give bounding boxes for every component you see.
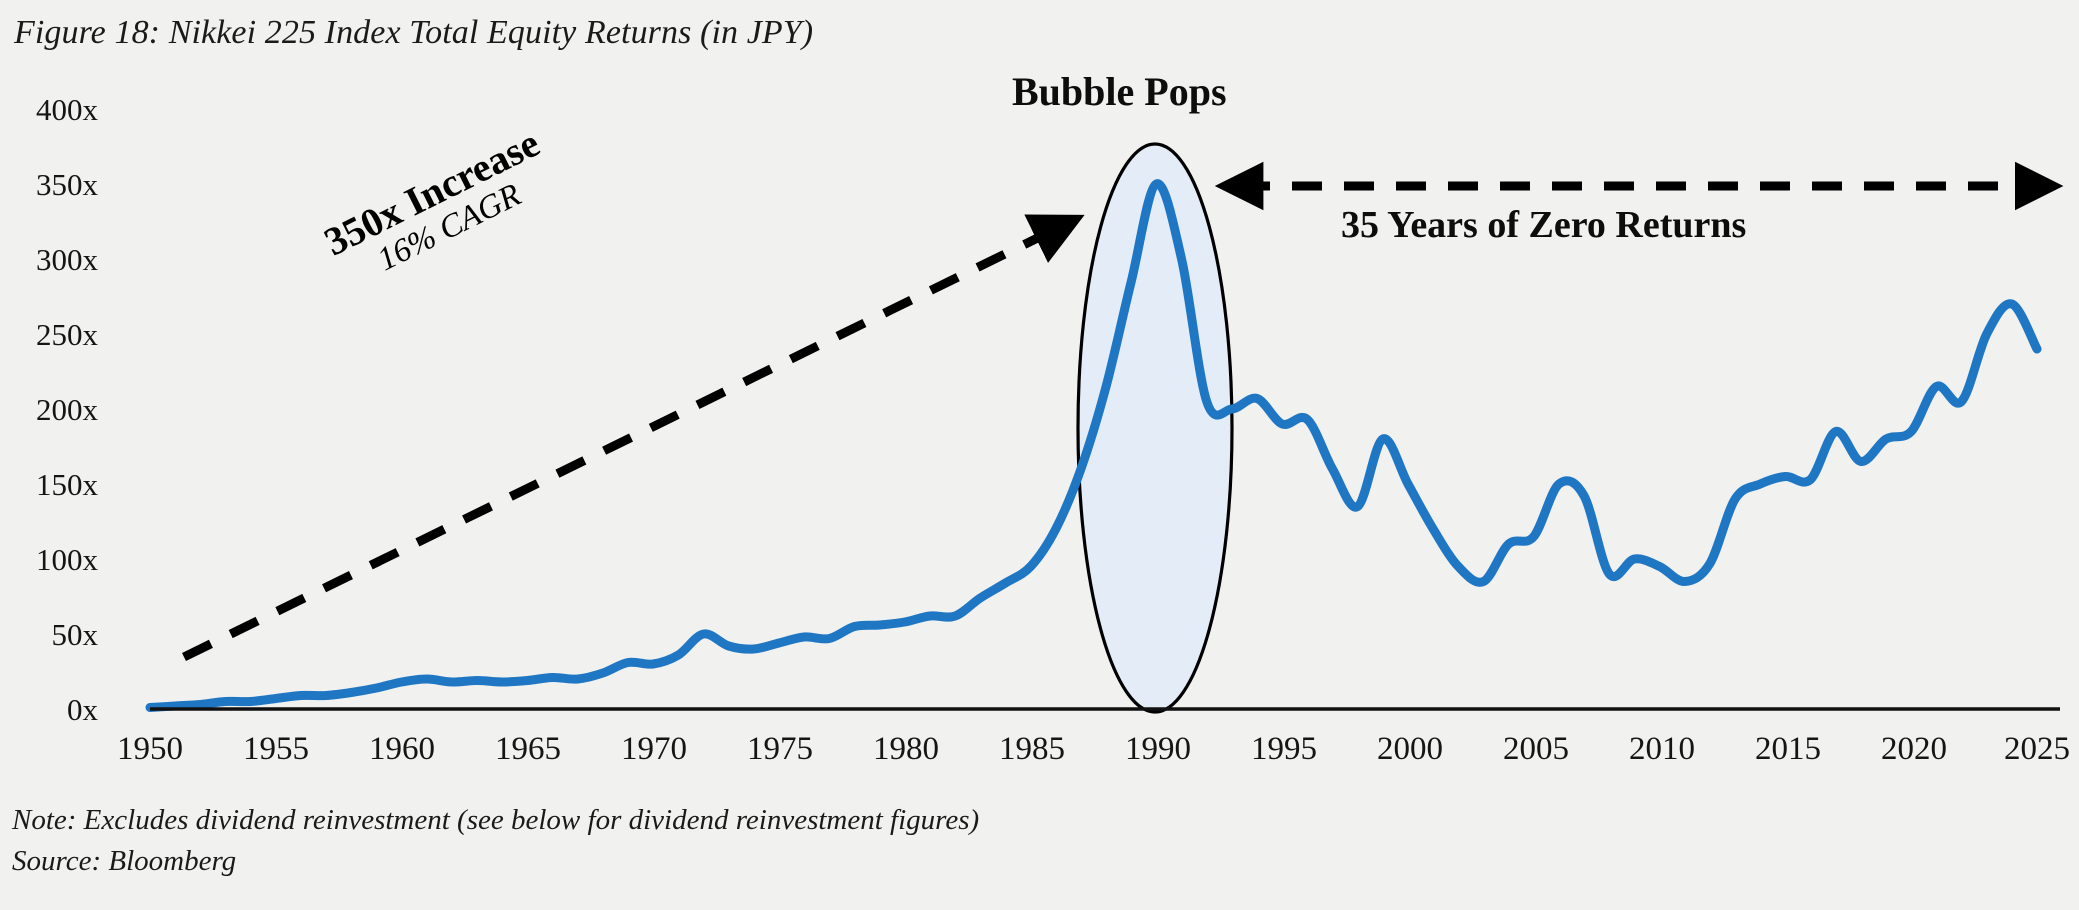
x-tick-2015: 2015 [1755,731,1821,768]
page-title: Figure 18: Nikkei 225 Index Total Equity… [14,14,813,52]
x-tick-2010: 2010 [1629,731,1695,768]
x-tick-1960: 1960 [369,731,435,768]
nikkei-return-line [150,184,2037,708]
footnote-source: Source: Bloomberg [12,841,979,882]
x-tick-1990: 1990 [1125,731,1191,768]
x-tick-2000: 2000 [1377,731,1443,768]
y-tick-150: 150x [0,467,98,503]
y-tick-0: 0x [0,692,98,728]
y-tick-100: 100x [0,542,98,578]
x-tick-1950: 1950 [117,731,183,768]
figure-container: Figure 18: Nikkei 225 Index Total Equity… [0,0,2079,910]
y-tick-350: 350x [0,167,98,203]
x-tick-1970: 1970 [621,731,687,768]
chart-canvas [0,0,2079,910]
x-tick-1985: 1985 [999,731,1065,768]
y-tick-200: 200x [0,392,98,428]
bubble-highlight-ellipse [1078,144,1232,712]
x-tick-2020: 2020 [1881,731,1947,768]
footnotes: Note: Excludes dividend reinvestment (se… [12,800,979,882]
x-tick-1980: 1980 [873,731,939,768]
x-tick-2005: 2005 [1503,731,1569,768]
footnote-note: Note: Excludes dividend reinvestment (se… [12,800,979,841]
annotation-growth-group: 350x Increase 16% CAGR [318,122,562,297]
x-tick-2025: 2025 [2004,731,2070,768]
dashed-growth-arrow [184,226,1062,657]
x-tick-1995: 1995 [1251,731,1317,768]
y-tick-50: 50x [0,617,98,653]
x-tick-1955: 1955 [243,731,309,768]
x-tick-1965: 1965 [495,731,561,768]
y-tick-400: 400x [0,92,98,128]
y-tick-250: 250x [0,317,98,353]
y-tick-300: 300x [0,242,98,278]
annotation-bubble-pops: Bubble Pops [1012,68,1227,115]
x-tick-1975: 1975 [747,731,813,768]
annotation-zero-returns: 35 Years of Zero Returns [1341,203,1746,247]
